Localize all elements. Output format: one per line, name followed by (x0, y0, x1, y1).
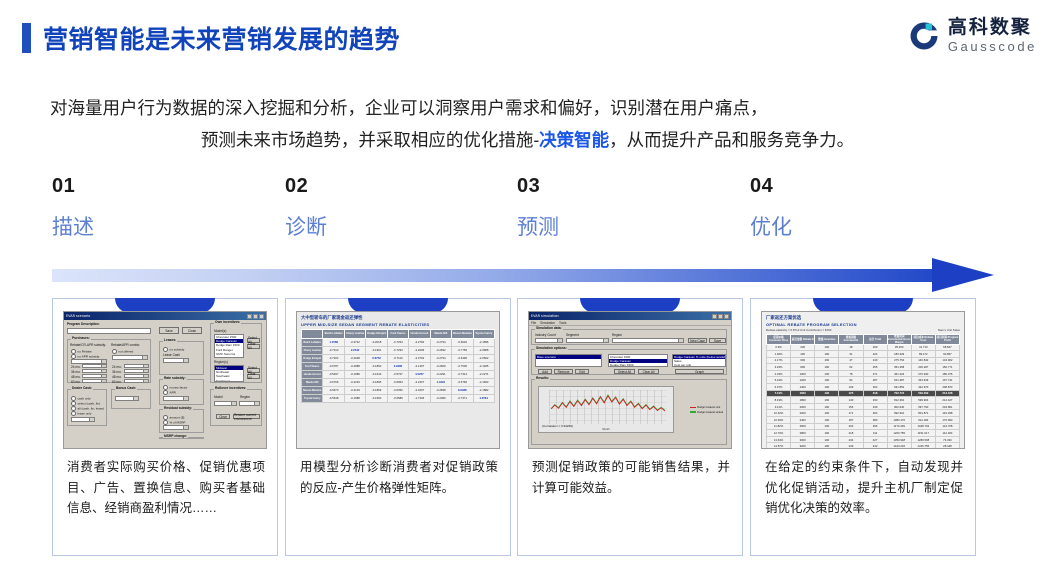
table-cell: -2.2606 (409, 346, 430, 354)
table-cell: -0.7756 (452, 346, 473, 354)
table-cell: -0.2692 (430, 346, 451, 354)
table-cell: 600 (791, 357, 815, 364)
input-lease-cash[interactable] (163, 358, 189, 363)
table-cell: 9.11% (767, 403, 791, 410)
table-cell: 396 (863, 423, 887, 430)
table-cell: -2.2337 (409, 378, 430, 386)
lbl-combo-term-24: 24 mo. (112, 365, 122, 369)
optimal-subtitle: Rebate elasticity = 0.8712 Unit Contribu… (766, 328, 831, 332)
table-cell: 2.2542 (344, 346, 365, 354)
list-outputs[interactable]: Dodge Caravan % units (below available) … (672, 354, 726, 367)
menu-tools[interactable]: Tools (559, 321, 566, 325)
table-cell: 12.70% (767, 430, 791, 437)
table-cell: 2600 (791, 423, 815, 430)
page-title-wrap: 营销智能是未来营销发展的趋势 (22, 20, 400, 56)
lbl-rollover-model: Model (214, 395, 223, 399)
table-cell: 2.17% (767, 357, 791, 364)
table-cell: 41.710 (911, 344, 935, 351)
input-rate-value[interactable] (163, 396, 189, 401)
table-cell: 1.1568 (323, 338, 344, 346)
table-row: Dodge Intrepid-0.7204-0.29280.6752-0.711… (302, 354, 495, 362)
table-cell: 442 (863, 443, 887, 449)
table-cell: 14.57% (767, 443, 791, 449)
table-cell: -0.5497 (323, 370, 344, 378)
dropdown-combo-amount[interactable] (112, 355, 148, 360)
table-cell: 240 (863, 357, 887, 364)
table-cell: -0.6589 (387, 394, 408, 402)
table-cell: 0.9480 (387, 362, 408, 370)
optimal-title-en: OPTIMAL REBATE PROGRAM SELECTION (766, 322, 960, 327)
save-case-button[interactable]: Save (709, 338, 726, 343)
table-cell: 78 (839, 370, 863, 377)
lbl-combo-term-36: 36 mo. (112, 370, 122, 374)
table-cell: -0.6787 (323, 362, 344, 370)
table-cell: 318 (863, 390, 887, 397)
table-cell: 134.902 (935, 357, 959, 364)
table-corner-cell (302, 329, 323, 338)
table-cell: 190 (815, 377, 839, 384)
group-results: Results: Month Dodge Caravan unit Dodge (531, 379, 727, 445)
table-cell: 1083.170 (887, 417, 911, 424)
table-cell: -0.1642 (366, 370, 387, 378)
table-header-cell: Buick LeSabre (323, 329, 344, 338)
step-01: 01 描述 (52, 175, 272, 241)
table-header-cell: 促销价格 Customer Price (767, 334, 791, 344)
table-row-header: Buick LeSabre (302, 338, 323, 346)
list-item[interactable]: Dodge Ram 1500 (215, 343, 243, 347)
table-cell: 801.871 (911, 410, 935, 417)
list-item[interactable]: Base scenario (536, 355, 601, 359)
table-cell: 190 (815, 430, 839, 437)
step-04-label: 优化 (750, 211, 970, 241)
table-cell: -2.0808 (473, 346, 495, 354)
lbl-term-48: 48 mo. (71, 375, 81, 379)
lead-line-2: 预测未来市场趋势，并采取相应的优化措施-决策智能，从而提升产品和服务竞争力。 (50, 124, 1005, 156)
clear-button[interactable]: Clear (216, 414, 230, 419)
dropdown-term-36[interactable] (82, 369, 107, 373)
table-cell: 204.861 (935, 403, 959, 410)
table-cell: -0.1991 (366, 346, 387, 354)
table-cell: 209 (863, 344, 887, 351)
lbl-rebate-sub: Rebate/CR-APR subsidy: (70, 343, 106, 347)
clear-all-regions-button[interactable]: Clear All (247, 374, 260, 379)
table-cell: 234 (839, 436, 863, 443)
table-cell: 902.640 (887, 403, 911, 410)
table-cell: 28.448 (935, 443, 959, 449)
table-cell: 190 (815, 410, 839, 417)
table-header-cell: 返还金额 Rebate $ (791, 334, 815, 344)
card-caption: 用模型分析诊断消费者对促销政策的反应-产生价格弹性矩阵。 (300, 457, 498, 498)
table-header-cell: Mazda 626 (430, 329, 451, 338)
table-row: Honda Accord-0.5497-0.1986-0.1642-0.5767… (302, 370, 495, 378)
table-cell: 349 (863, 403, 887, 410)
table-cell: 702.715 (887, 390, 911, 397)
table-cell: 197.741 (935, 377, 959, 384)
lbl-region: Region (612, 333, 622, 337)
table-cell: -0.2838 (430, 386, 451, 394)
table-row-header: Toyota Camry (302, 394, 323, 402)
table-cell: 89.472 (911, 351, 935, 358)
group-sim-options-legend: Simulation options: (535, 346, 568, 350)
group-rate-subsidy-legend: Rate subsidy: (163, 376, 187, 380)
table-row-header: Nissan Maxima (302, 386, 323, 394)
table-cell: 4.0257 (409, 370, 430, 378)
table-cell: 351.358 (887, 364, 911, 371)
table-cell: -2.1663 (473, 378, 495, 386)
table-cell: -0.7204 (323, 354, 344, 362)
table-row: 13.64%30001902344271353.9481280.50873.43… (767, 436, 960, 443)
table-cell: 411 (863, 430, 887, 437)
radio-apr[interactable]: APR (163, 390, 176, 395)
table-cell: 187 (839, 417, 863, 424)
table-cell: 18 (839, 344, 863, 351)
lead-line-2-after: ，从而提升产品和服务竞争力。 (609, 130, 854, 150)
dropdown-segment[interactable] (566, 338, 609, 343)
table-cell: 190 (815, 403, 839, 410)
dropdown-term-24[interactable] (82, 364, 107, 368)
table-header-cell: Dodge Intrepid (366, 329, 387, 338)
table-cell: 5.44% (767, 377, 791, 384)
table-cell: 1263.755 (887, 430, 911, 437)
table-cell: 249 (839, 443, 863, 449)
dropdown-combo-48[interactable] (124, 374, 149, 378)
radio-lease-only[interactable]: lease only (71, 411, 91, 416)
table-cell: 427 (863, 436, 887, 443)
clear-all-models-button[interactable]: Clear All (247, 344, 260, 349)
table-header-cell: 项目成本 Rebate Cost (911, 334, 935, 344)
group-rollover-legend: Rollover incentives: (214, 386, 247, 390)
lead-line-2-before: 预测未来市场趋势，并采取相应的优化措施- (201, 130, 539, 150)
lbl-models: Model(s) (214, 329, 226, 333)
table-cell: 0.6752 (366, 354, 387, 362)
table-cell: 190 (815, 357, 839, 364)
table-cell: 1353.948 (887, 436, 911, 443)
table-cell: 3200 (791, 443, 815, 449)
dropdown-bonus-cash[interactable] (115, 396, 139, 401)
group-own-incentives-legend: Own incentives: (214, 320, 241, 324)
table-cell: -2.2271 (473, 370, 495, 378)
table-cell: 190 (815, 390, 839, 397)
step-02-label: 诊断 (285, 211, 505, 241)
table-cell: 7.19% (767, 390, 791, 397)
load-button[interactable]: New Case (688, 338, 707, 343)
dropdown-industry-count[interactable] (535, 338, 563, 343)
table-cell: -0.7293 (387, 346, 408, 354)
logo-name-cn: 高科数聚 (948, 18, 1037, 37)
group-purchases-legend: Purchases: (71, 336, 91, 340)
table-row: 1.92%40019031224180.32989.47290.867 (767, 351, 960, 358)
table-cell: 224 (863, 351, 887, 358)
table-cell: 343.646 (911, 377, 935, 384)
table-header-cell: Chevy Lumina (344, 329, 365, 338)
menu-simulation[interactable]: Simulation (540, 321, 555, 325)
elasticity-title-en: UPPER MID-SIZE SEDAN SEGMENT REBATE ELAS… (301, 322, 495, 327)
table-cell: 271 (863, 370, 887, 377)
dropdown-rollover-region[interactable] (239, 401, 260, 406)
lbl-term-60: 60 mo. (71, 380, 81, 384)
lbl-combo-term-48: 48 mo. (112, 375, 122, 379)
table-cell: -0.1988 (344, 394, 365, 402)
table-cell: 451.323 (887, 370, 911, 377)
table-cell: 13.64% (767, 436, 791, 443)
table-cell: 1173.409 (887, 423, 911, 430)
list-models[interactable]: Chevrolet 1500 Dodge Caravan Dodge Ram 1… (608, 354, 668, 367)
step-03: 03 预测 (517, 175, 737, 241)
table-cell: 2800 (791, 430, 815, 437)
table-cell: -0.3742 (344, 338, 365, 346)
group-results-legend: Results: (535, 376, 550, 380)
table-cell: 255 (863, 364, 887, 371)
clear-all-button[interactable]: Clear All (638, 369, 659, 374)
optimal-rebate-table: 促销价格 Customer Price返还金额 Rebate $数量 Incen… (766, 334, 960, 450)
list-regions[interactable]: Midwest Northeast Southeast Southwest (214, 365, 244, 382)
table-row: 8.19%1800190140333812.391599.904212.427 (767, 397, 960, 404)
table-cell: 422.970 (911, 384, 935, 391)
table-cell: 1800 (791, 397, 815, 404)
table-cell: 2000 (791, 403, 815, 410)
page-title: 营销智能是未来营销发展的趋势 (43, 20, 400, 56)
table-cell: 94 (839, 377, 863, 384)
elasticity-title-cn: 大中型轿车的厂家现金返还弹性 (301, 315, 495, 321)
gausscode-logo-icon (907, 19, 941, 53)
list-item[interactable]: Southwest (215, 379, 243, 382)
table-cell: 190 (815, 344, 839, 351)
step-01-label: 描述 (52, 211, 272, 241)
table-cell: -0.2291 (430, 370, 451, 378)
arrow-head-icon (932, 258, 994, 292)
table-cell: -0.2233 (344, 378, 365, 386)
table-cell: -0.7110 (387, 354, 408, 362)
win-title-text: EVAR simulation (531, 314, 559, 318)
table-cell: -0.6352 (387, 386, 408, 394)
table-cell: 109 (839, 384, 863, 391)
restore-env-button[interactable]: Restore current environment (233, 414, 260, 419)
lbl-term-36: 36 mo. (71, 370, 81, 374)
table-cell: 68.847 (935, 344, 959, 351)
table-cell: 6.07% (767, 384, 791, 391)
dropdown-rollover-model[interactable] (214, 401, 237, 406)
table-cell: 47 (839, 357, 863, 364)
dropdown-combo-24[interactable] (124, 364, 149, 368)
lbl-combo-sub: Rebate/APR combo: (111, 343, 140, 347)
table-cell: -0.6040 (452, 338, 473, 346)
table-cell: 125 (839, 390, 863, 397)
table-cell: 190 (815, 397, 839, 404)
save-button[interactable]: Save (159, 327, 179, 334)
win-title-text: EVAR scenario (66, 314, 90, 318)
table-cell: 180.329 (887, 351, 911, 358)
table-cell: 2400 (791, 417, 815, 424)
table-cell: 302 (863, 384, 887, 391)
dropdown-term-48[interactable] (82, 374, 107, 378)
table-cell: 112.184 (935, 430, 959, 437)
card-screenshot-chart: EVAR simulation File Simulation Tools Si… (528, 311, 732, 449)
dropdown-term-60[interactable] (82, 379, 107, 383)
table-cell: 400 (791, 351, 815, 358)
table-cell: 90.867 (935, 351, 959, 358)
radio-no-lease-subsidy[interactable]: no subsidy (163, 347, 184, 352)
table-cell: 275.754 (887, 357, 911, 364)
table-cell: 1444.232 (887, 443, 911, 449)
table-cell: 10.93% (767, 417, 791, 424)
table-cell: 992.910 (887, 410, 911, 417)
list-scenarios[interactable]: Base scenario (535, 354, 602, 367)
dropdown-dealer-cash[interactable] (71, 417, 95, 422)
list-item[interactable]: Cost per unit (673, 363, 725, 367)
remove-button[interactable]: Remove (554, 369, 573, 374)
table-cell: 1415.756 (911, 443, 935, 449)
legend-item-label: Dodge Caravan actual (697, 411, 723, 414)
table-header-cell: Ford Taurus (387, 329, 408, 338)
table-cell: 0.9% (767, 344, 791, 351)
table-cell: -0.2794 (430, 338, 451, 346)
logo-text: 高科数聚 Gausscode (948, 18, 1037, 53)
table-row: Buick LeSabre1.1568-0.3742-0.2018-0.7254… (302, 338, 495, 346)
table-cell: 203 (839, 423, 863, 430)
list-item[interactable]: Dodge Ram 1500 (609, 363, 667, 367)
table-cell: -2.2792 (409, 338, 430, 346)
table-cell: 912.184 (911, 417, 935, 424)
table-cell: -0.1895 (366, 378, 387, 386)
steps-row: 01 描述 02 诊断 03 预测 04 优化 (0, 175, 1051, 245)
table-header-cell: Nissan Maxima (452, 329, 473, 338)
table-row: 14.57%32001902494421444.2321415.75628.44… (767, 443, 960, 449)
table-cell: 270.930 (911, 370, 935, 377)
step-02: 02 诊断 (285, 175, 505, 241)
table-cell: -0.7371 (452, 394, 473, 402)
logo-name-en: Gausscode (948, 40, 1037, 53)
close-button[interactable]: Close (182, 327, 202, 334)
radio-not-offered[interactable]: not offered (112, 349, 133, 354)
select-all-button[interactable]: Select All (614, 369, 635, 374)
table-cell: -2.1882 (473, 386, 495, 394)
table-row: Mazda 626-0.6766-0.2233-0.1895-0.6954-2.… (302, 378, 495, 386)
group-msrp-change: MSRP change: (159, 437, 204, 439)
card-describe[interactable]: EVAR scenario Program Description: Purch… (52, 298, 278, 556)
table-cell: 200 (791, 344, 815, 351)
lead-paragraph: 对海量用户行为数据的深入挖掘和分析，企业可以洞察用户需求和偏好，识别潜在用户痛点… (50, 92, 1005, 156)
graph-button[interactable]: Graph (675, 369, 724, 374)
lbl-industry-count: Industry Count (535, 333, 556, 337)
table-cell: -0.6766 (323, 378, 344, 386)
group-residual-subsidy: Residual subsidy: amount ($) % of MSRP (159, 409, 204, 433)
table-cell: 4.33% (767, 370, 791, 377)
group-rate-subsidy: Rate subsidy: money factor APR (159, 379, 204, 405)
card-screenshot-elasticity: 大中型轿车的厂家现金返还弹性 UPPER MID-SIZE SEDAN SEGM… (296, 311, 500, 449)
table-cell: -0.7254 (387, 338, 408, 346)
step-03-label: 预测 (517, 211, 737, 241)
table-cell: 180.376 (935, 370, 959, 377)
table-row: 5.44%120019094287541.387343.646197.741 (767, 377, 960, 384)
table-cell: -0.2018 (366, 338, 387, 346)
menu-file[interactable]: File (531, 321, 536, 325)
table-header-cell: Honda Accord (409, 329, 430, 338)
table-row: 12.70%28001902184111263.7551151.017112.1… (767, 430, 960, 437)
table-cell: 95.260 (887, 344, 911, 351)
group-simulation-data: Simulation data: Industry Count Segment … (531, 329, 727, 345)
table-cell: 1.4291 (430, 378, 451, 386)
table-cell: 213.168 (935, 390, 959, 397)
add-button[interactable]: Add (538, 369, 552, 374)
table-cell: 1200 (791, 377, 815, 384)
correlation-text: (Correlation = 0.94269) (542, 424, 573, 428)
table-header-cell: 增量利润 Incremental Gross Margin (887, 334, 911, 344)
lbl-segment: Segment (566, 333, 579, 337)
card-diagnose[interactable]: 大中型轿车的厂家现金返还弹性 UPPER MID-SIZE SEDAN SEGM… (285, 298, 511, 556)
progress-arrow (52, 258, 1002, 292)
card-predict[interactable]: EVAR simulation File Simulation Tools Si… (517, 298, 743, 556)
chart-x-axis-label: Month (602, 428, 609, 431)
table-cell: -0.2794 (430, 354, 451, 362)
table-cell: 190 (815, 370, 839, 377)
table-row: 3.43%80019062255351.358206.287150.771 (767, 364, 960, 371)
table-cell: -0.6673 (323, 386, 344, 394)
table-cell: 73.430 (935, 436, 959, 443)
table-cell: 170.993 (935, 417, 959, 424)
table-cell: 190 (815, 364, 839, 371)
table-cell: 1.92% (767, 351, 791, 358)
title-accent-bar (22, 23, 31, 53)
table-cell: 8.19% (767, 397, 791, 404)
table-row: 7.19%1600190125318702.715509.209213.168 (767, 390, 960, 397)
table-cell: -0.1986 (344, 370, 365, 378)
lead-line-1: 对海量用户行为数据的深入挖掘和分析，企业可以洞察用户需求和偏好，识别潜在用户痛点… (50, 92, 1005, 124)
table-cell: -0.1660 (366, 394, 387, 402)
table-cell: -0.5648 (323, 394, 344, 402)
list-models[interactable]: Chevrolet 1500 Dodge Caravan Dodge Ram 1… (214, 334, 244, 358)
table-cell: 1400 (791, 384, 815, 391)
table-row: Toyota Camry-0.5648-0.1988-0.1660-0.6589… (302, 394, 495, 402)
input-program-description[interactable] (67, 328, 151, 334)
dropdown-combo-36[interactable] (124, 369, 149, 373)
table-cell: 1000 (791, 370, 815, 377)
table-cell: 144.708 (935, 423, 959, 430)
table-cell: 812.391 (887, 397, 911, 404)
input-residual-value[interactable] (163, 425, 189, 430)
table-cell: 3000 (791, 436, 815, 443)
table-row: 9.11%2000190156349902.640697.790204.861 (767, 403, 960, 410)
lbl-regions: Region(s) (214, 360, 228, 364)
table-row: 2.17%60019047240275.754140.842134.902 (767, 357, 960, 364)
table-cell: 1028.702 (911, 423, 935, 430)
table-cell: -0.6954 (387, 378, 408, 386)
table-cell: -0.7313 (323, 346, 344, 354)
dropdown-rebate-amount[interactable] (71, 359, 107, 364)
table-header-cell: 数量 Incentive (815, 334, 839, 344)
table-row: 6.07%1400190109302631.852422.970208.873 (767, 384, 960, 391)
step-01-number: 01 (52, 175, 272, 198)
group-rollover-incentives: Rollover incentives: Model Region Clear … (210, 389, 262, 426)
card-caption: 消费者实际购买价格、促销优惠项目、广告、置换信息、购买者基础信息、经销商盈利情况… (67, 457, 265, 519)
edit-button[interactable]: Edit (575, 369, 589, 374)
table-header-cell: 项目利润 Program Profit (935, 334, 959, 344)
group-leases-legend: Leases: (163, 338, 177, 342)
table-cell: -0.2380 (430, 394, 451, 402)
table-cell: 2200 (791, 410, 815, 417)
card-optimize[interactable]: 厂家返还方案优选 OPTIMAL REBATE PROGRAM SELECTIO… (750, 298, 976, 556)
lbl-rollover-region: Region (240, 395, 250, 399)
table-cell: -0.2669 (430, 362, 451, 370)
table-cell: -0.5767 (387, 370, 408, 378)
list-item[interactable]: Mazda B Series (215, 356, 243, 358)
table-cell: 190 (815, 417, 839, 424)
dropdown-combo-60[interactable] (124, 379, 149, 383)
group-simulation-options: Simulation options: Base scenario Chevro… (531, 349, 727, 375)
group-sim-data-legend: Simulation data: (535, 326, 563, 330)
group-dealer-cash: Dealer Cash: cash only select (cash, fin… (67, 389, 107, 426)
table-row: Nissan Maxima-0.6673-0.2149-0.1869-0.635… (302, 386, 495, 394)
dropdown-region[interactable] (612, 338, 684, 343)
